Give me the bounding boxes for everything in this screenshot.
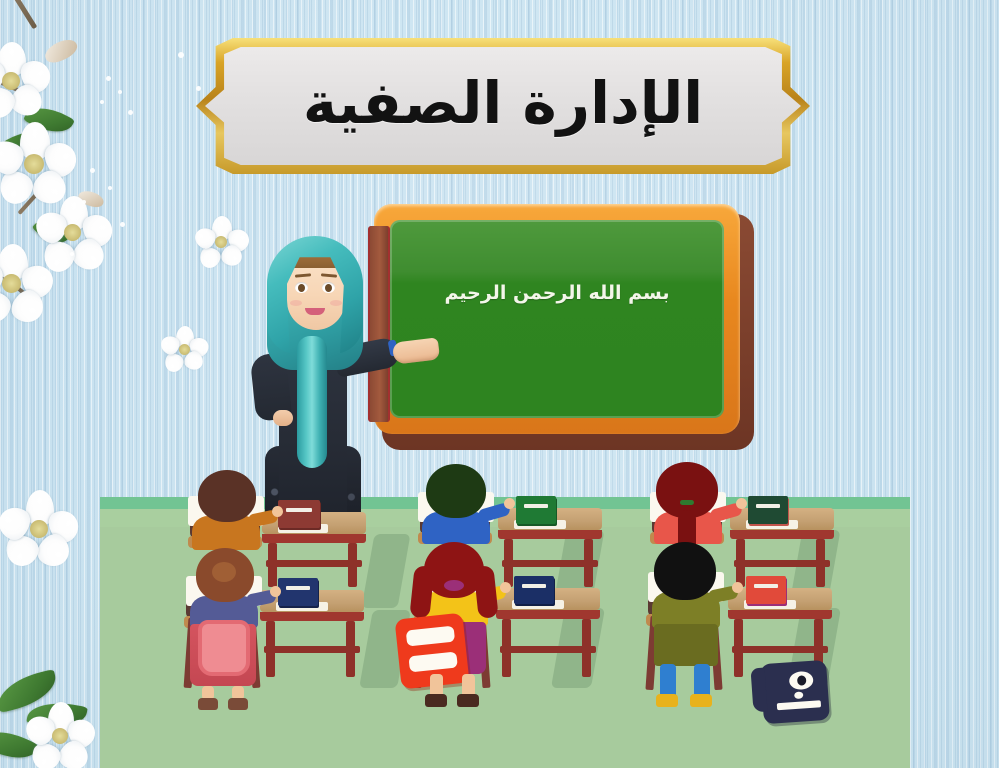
student-hair-tie — [444, 580, 464, 591]
student-shoe — [457, 694, 479, 707]
desk-crossbar — [732, 646, 828, 653]
desk-crossbar — [500, 646, 596, 653]
desk-book — [748, 496, 788, 524]
chalkboard[interactable]: بسم الله الرحمن الرحيم — [374, 204, 754, 450]
student-shoe — [690, 694, 712, 707]
student-head — [198, 470, 256, 522]
student-shoe — [656, 694, 678, 707]
chalkboard-frame: بسم الله الرحمن الرحيم — [374, 204, 740, 434]
chair-backpack[interactable] — [198, 620, 250, 676]
student-shoe — [198, 698, 218, 710]
floating-blossom-2 — [162, 326, 208, 372]
student-hand — [736, 498, 747, 509]
student-lower-shirt — [654, 624, 718, 666]
desk-crossbar — [734, 560, 830, 567]
page-title: الإدارة الصفية — [196, 38, 810, 174]
teacher-scarf-tail — [297, 336, 327, 468]
student-shoe — [425, 694, 447, 707]
desk-book — [278, 578, 318, 606]
student-head — [426, 464, 486, 518]
desk-book — [278, 500, 320, 528]
floating-blossom-1 — [196, 216, 248, 268]
teacher-left-hand — [273, 410, 293, 426]
teacher-left-eye — [295, 282, 308, 293]
desk-book — [746, 576, 786, 604]
student-shoe — [228, 698, 248, 710]
slide-canvas: الإدارة الصفية بسم الله الرحمن الرحيم — [0, 0, 999, 768]
student-hand — [732, 582, 743, 593]
floor-backpack[interactable] — [760, 660, 830, 724]
teacher-character[interactable] — [243, 232, 388, 532]
desk-book — [516, 496, 556, 524]
student-head — [654, 542, 716, 600]
chalkboard-text: بسم الله الرحمن الرحيم — [390, 282, 724, 304]
desk-crossbar — [502, 560, 598, 567]
desk-apron — [498, 530, 602, 539]
student-hand — [270, 586, 281, 597]
desk-apron — [262, 534, 366, 543]
desk-apron — [260, 612, 364, 621]
backpack-eye — [789, 671, 814, 691]
student-hand — [272, 506, 283, 517]
backpack-mouth — [777, 700, 821, 710]
desk-crossbar — [266, 560, 362, 567]
desk-apron — [730, 530, 834, 539]
teacher-right-eye — [322, 282, 335, 293]
chalkboard-surface: بسم الله الرحمن الرحيم — [390, 220, 724, 418]
student-hand — [504, 498, 515, 509]
student-hair-clip — [680, 500, 694, 505]
desk-book — [514, 576, 554, 604]
desk-crossbar — [264, 646, 360, 653]
desk-apron — [728, 610, 832, 619]
desk-apron — [496, 610, 600, 619]
student-hand — [500, 582, 511, 593]
title-plaque: الإدارة الصفية — [196, 38, 810, 174]
backpack-strap — [750, 668, 767, 713]
backpack-nose — [794, 691, 803, 699]
student-leg — [660, 664, 676, 698]
student-leg — [694, 664, 710, 698]
student-hair-bun — [212, 562, 236, 582]
